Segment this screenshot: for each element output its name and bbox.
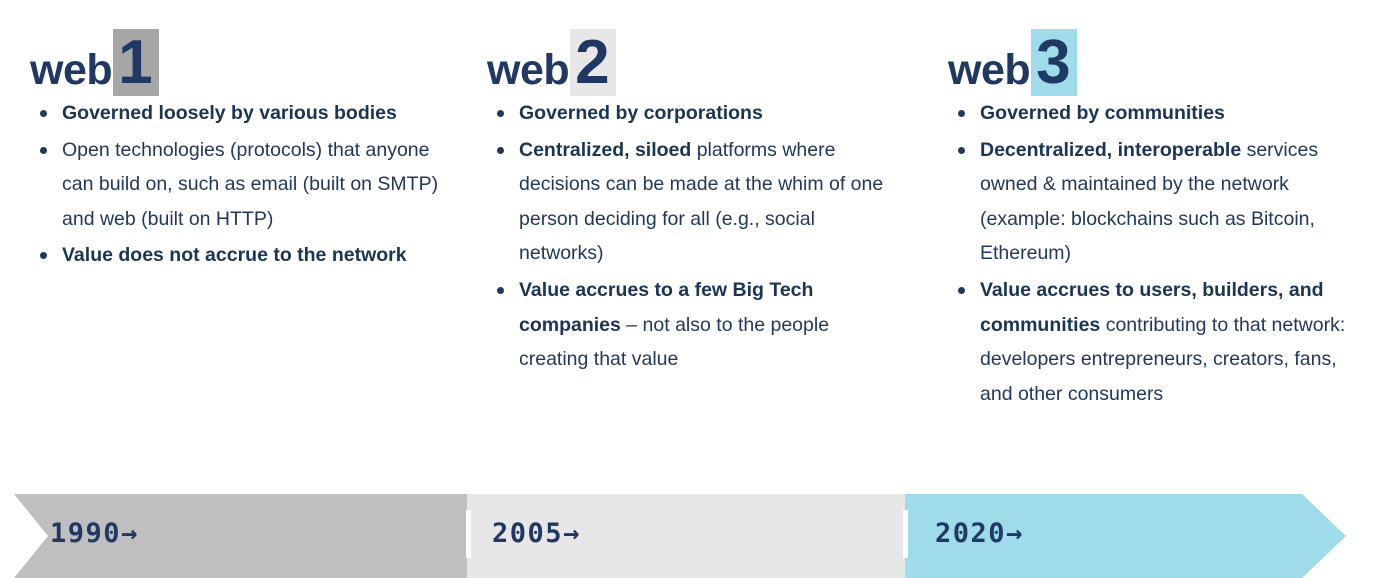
heading-number: 1 — [113, 29, 158, 96]
bullet-item: Value does not accrue to the network — [30, 238, 460, 273]
timeline-label-2005: 2005→ — [492, 518, 581, 549]
heading-word: web — [30, 49, 112, 96]
bullet-text-bold: Decentralized, interoperable — [980, 139, 1241, 161]
bullet-item: Governed loosely by various bodies — [30, 96, 460, 131]
bullet-list-web2: Governed by corporationsCentralized, sil… — [487, 96, 887, 377]
heading-number: 2 — [570, 29, 615, 96]
heading-word: web — [487, 49, 569, 96]
bullet-item: Governed by communities — [948, 96, 1348, 131]
bullet-text: Open technologies (protocols) that anyon… — [62, 139, 438, 230]
heading-word: web — [948, 49, 1030, 96]
column-web1: web1 Governed loosely by various bodiesO… — [30, 0, 460, 275]
timeline-label-1990: 1990→ — [50, 518, 139, 549]
heading-web2: web2 — [487, 0, 887, 96]
bullet-item: Centralized, siloed platforms where deci… — [487, 133, 887, 271]
bullet-item: Open technologies (protocols) that anyon… — [30, 133, 460, 237]
timeline-divider-2 — [903, 510, 908, 558]
column-web3: web3 Governed by communitiesDecentralize… — [948, 0, 1348, 413]
bullet-list-web3: Governed by communitiesDecentralized, in… — [948, 96, 1348, 411]
bullet-item: Decentralized, interoperable services ow… — [948, 133, 1348, 271]
heading-web3: web3 — [948, 0, 1348, 96]
bullet-item: Value accrues to a few Big Tech companie… — [487, 273, 887, 377]
timeline-bar: 1990→ 2005→ 2020→ — [0, 494, 1376, 578]
bullet-item: Value accrues to users, builders, and co… — [948, 273, 1348, 411]
bullet-text-bold: Value does not accrue to the network — [62, 244, 407, 266]
comparison-columns: web1 Governed loosely by various bodiesO… — [0, 0, 1376, 494]
timeline-shapes — [0, 494, 1376, 578]
column-web2: web2 Governed by corporationsCentralized… — [487, 0, 887, 379]
bullet-text-bold: Centralized, siloed — [519, 139, 691, 161]
timeline-label-2020: 2020→ — [935, 518, 1024, 549]
bullet-list-web1: Governed loosely by various bodiesOpen t… — [30, 96, 460, 273]
heading-web1: web1 — [30, 0, 460, 96]
bullet-text-bold: Governed loosely by various bodies — [62, 102, 397, 124]
bullet-item: Governed by corporations — [487, 96, 887, 131]
bullet-text-bold: Governed by corporations — [519, 102, 763, 124]
timeline-divider-1 — [466, 510, 471, 558]
heading-number: 3 — [1031, 29, 1076, 96]
bullet-text-bold: Governed by communities — [980, 102, 1225, 124]
